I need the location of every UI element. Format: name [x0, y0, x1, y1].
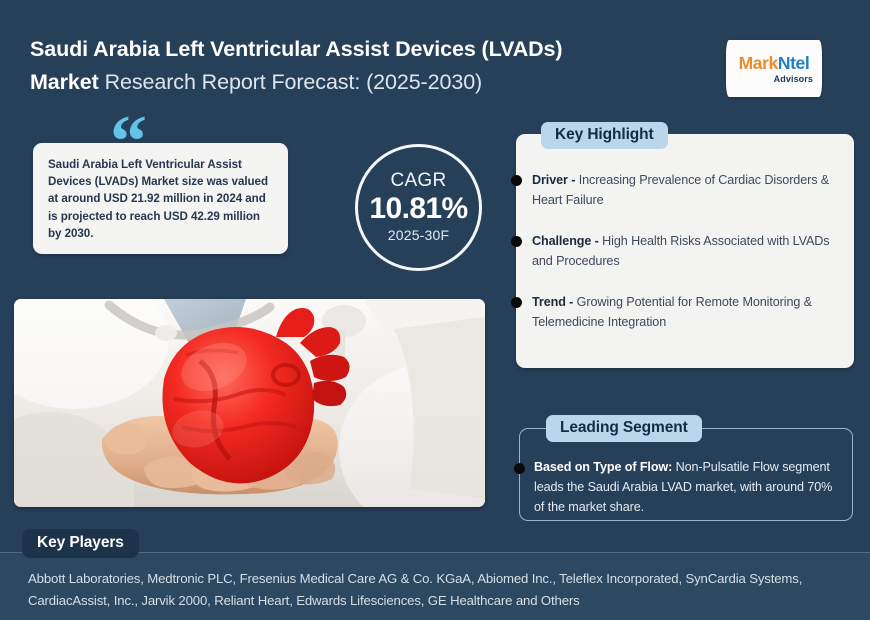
key-highlight-badge: Key Highlight [541, 122, 668, 149]
page-title: Saudi Arabia Left Ventricular Assist Dev… [30, 33, 670, 99]
highlight-text-driver: Increasing Prevalence of Cardiac Disorde… [532, 173, 829, 207]
title-line-2: Market Research Report Forecast: (2025-2… [30, 66, 670, 99]
bullet-dot-icon [514, 463, 525, 474]
hero-photo-heart-in-hands [14, 299, 485, 507]
cagr-badge: CAGR 10.81% 2025-30F [355, 144, 482, 271]
heart-photo-illustration [14, 299, 485, 507]
logo-wordmark: MarkNtel [739, 53, 810, 73]
key-highlight-list: Driver - Increasing Prevalence of Cardia… [532, 170, 842, 353]
bullet-dot-icon [511, 236, 522, 247]
list-item: Challenge - High Health Risks Associated… [532, 231, 842, 271]
title-line-1-text: Saudi Arabia Left Ventricular Assist Dev… [30, 37, 562, 61]
leading-segment-badge: Leading Segment [546, 415, 702, 442]
highlight-label-trend: Trend - [532, 295, 573, 309]
infographic-root: Saudi Arabia Left Ventricular Assist Dev… [0, 0, 870, 620]
key-players-badge: Key Players [22, 529, 139, 558]
quote-mark-icon: “ [110, 112, 148, 172]
list-item: Driver - Increasing Prevalence of Cardia… [532, 170, 842, 210]
brand-logo: MarkNtel Advisors [726, 40, 822, 97]
highlight-text-trend: Growing Potential for Remote Monitoring … [532, 295, 812, 329]
market-size-text: Saudi Arabia Left Ventricular Assist Dev… [48, 156, 273, 242]
leading-segment-text: Based on Type of Flow: Non-Pulsatile Flo… [534, 457, 836, 517]
title-line-2-strong: Market [30, 70, 99, 94]
cagr-value: 10.81% [369, 192, 467, 226]
leading-segment-label: Based on Type of Flow: [534, 460, 672, 474]
logo-word-ntel: Ntel [778, 53, 809, 73]
title-line-1: Saudi Arabia Left Ventricular Assist Dev… [30, 33, 670, 66]
logo-subtitle: Advisors [774, 73, 813, 85]
key-players-text: Abbott Laboratories, Medtronic PLC, Fres… [28, 568, 838, 612]
bullet-dot-icon [511, 175, 522, 186]
list-item: Trend - Growing Potential for Remote Mon… [532, 292, 842, 332]
logo-word-mark: Mark [739, 53, 778, 73]
cagr-label: CAGR [390, 170, 446, 192]
highlight-label-driver: Driver - [532, 173, 575, 187]
cagr-period: 2025-30F [388, 226, 450, 245]
highlight-label-challenge: Challenge - [532, 234, 599, 248]
bullet-dot-icon [511, 297, 522, 308]
market-size-card: Saudi Arabia Left Ventricular Assist Dev… [33, 143, 288, 254]
title-line-2-light: Research Report Forecast: (2025-2030) [99, 70, 482, 94]
